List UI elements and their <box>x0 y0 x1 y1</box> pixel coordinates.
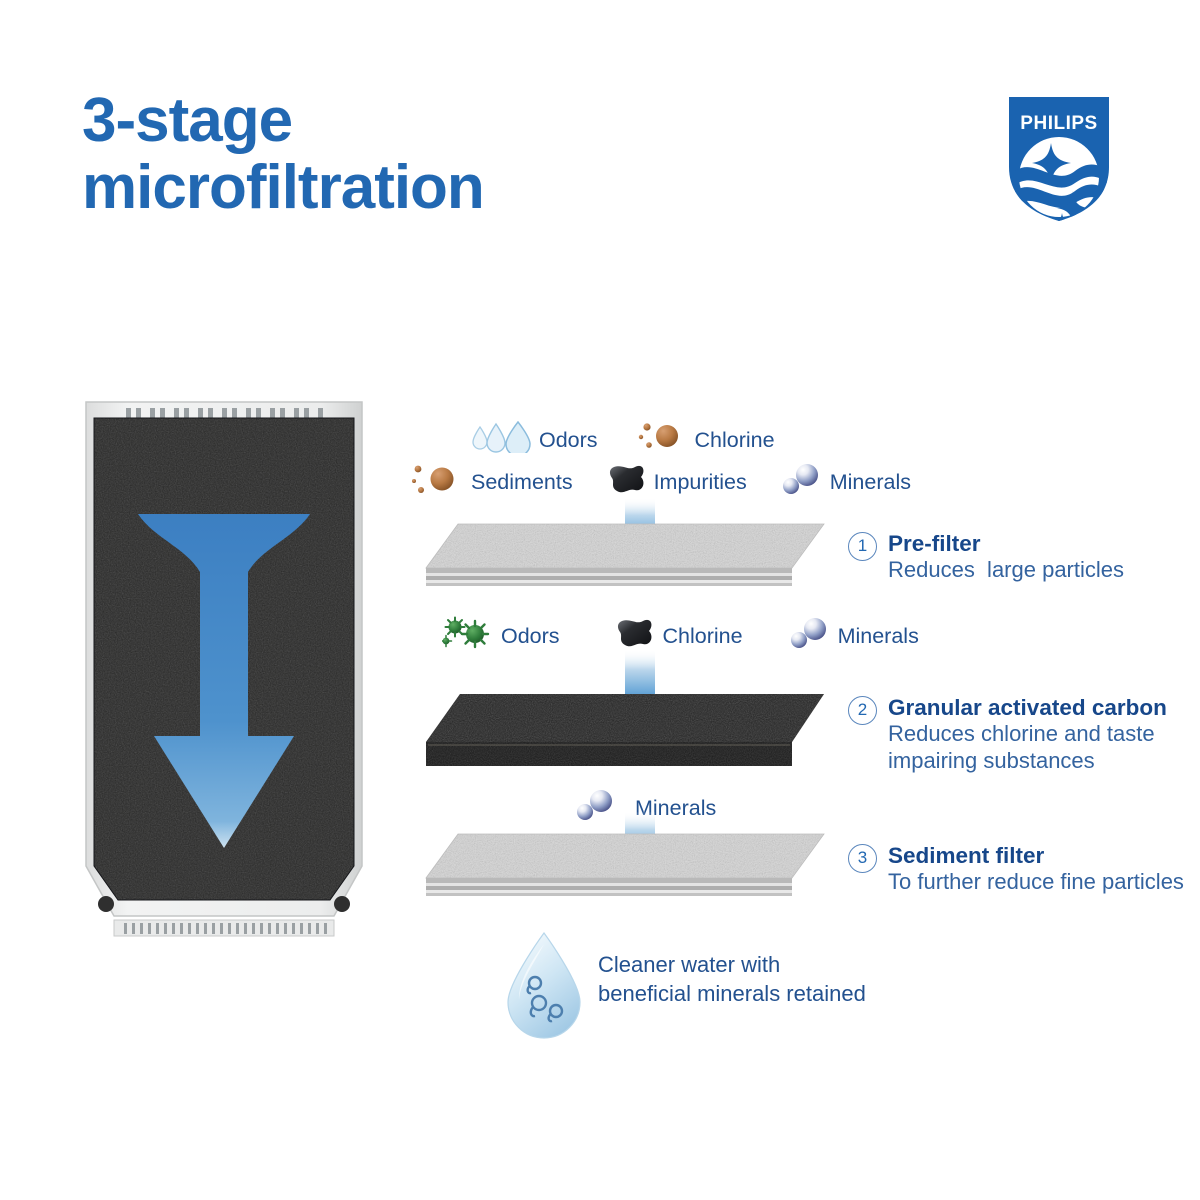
chip-chlorine-particles: Chlorine <box>638 420 775 460</box>
stage-3-info: 3 Sediment filter To further reduce fine… <box>848 842 1188 896</box>
light-speckled-filter-slab <box>420 518 830 595</box>
chip-minerals: Minerals <box>781 462 911 502</box>
brown-particles-icon <box>412 461 464 503</box>
water-drop-with-bubbles-icon <box>498 930 590 1042</box>
chip-odors-microbes: Odors <box>442 615 560 657</box>
brown-particles-icon <box>638 420 688 460</box>
chip-label: Minerals <box>830 470 911 495</box>
chip-odors-droplets: Odors <box>470 421 598 459</box>
stage-title: Sediment filter <box>888 842 1188 869</box>
stage-number-badge: 2 <box>848 696 877 725</box>
stage-2-info: 2 Granular activated carbon Reduces chlo… <box>848 694 1178 774</box>
stage-1-info: 1 Pre-filter Reduces large particles <box>848 530 1178 584</box>
stage-title: Pre-filter <box>888 530 1178 557</box>
infographic-canvas: 3-stage microfiltration PHILIPS <box>0 0 1200 1200</box>
light-speckled-filter-slab <box>420 828 830 905</box>
outcome-text: Cleaner water with beneficial minerals r… <box>598 950 866 1009</box>
chip-label: Impurities <box>654 470 747 495</box>
contaminant-row-inlet-bottom: Sediments Impurities Minerals <box>412 461 911 503</box>
stage-description: To further reduce fine particles <box>888 869 1188 895</box>
stage-description: Reduces chlorine and taste impairing sub… <box>888 721 1178 774</box>
stage-number-badge: 1 <box>848 532 877 561</box>
chip-impurities: Impurities <box>607 462 747 502</box>
stage-number-badge: 3 <box>848 844 877 873</box>
water-filter-cartridge <box>80 396 368 958</box>
philips-shield-logo: PHILIPS <box>1007 95 1111 223</box>
dark-blob-icon <box>607 462 647 502</box>
page-title: 3-stage microfiltration <box>82 88 722 222</box>
stage-title: Granular activated carbon <box>888 694 1178 721</box>
green-microbes-icon <box>442 615 494 657</box>
chip-label: Odors <box>539 428 598 453</box>
chip-minerals: Minerals <box>789 616 919 656</box>
chip-label: Chlorine <box>695 428 775 453</box>
mineral-spheres-icon <box>789 616 831 656</box>
title-line-2: microfiltration <box>82 155 722 222</box>
mineral-spheres-icon <box>781 462 823 502</box>
chip-label: Odors <box>501 624 560 649</box>
logo-wordmark: PHILIPS <box>1020 113 1097 134</box>
chip-label: Minerals <box>838 624 919 649</box>
contaminant-row-inlet-top: Odors Chlorine <box>470 420 775 460</box>
chip-label: Sediments <box>471 470 573 495</box>
chip-label: Chlorine <box>663 624 743 649</box>
stage-description: Reduces large particles <box>888 557 1178 583</box>
dark-carbon-slab <box>420 690 830 777</box>
water-droplets-icon <box>470 421 532 459</box>
title-line-1: 3-stage <box>82 86 292 155</box>
chip-sediments: Sediments <box>412 461 573 503</box>
